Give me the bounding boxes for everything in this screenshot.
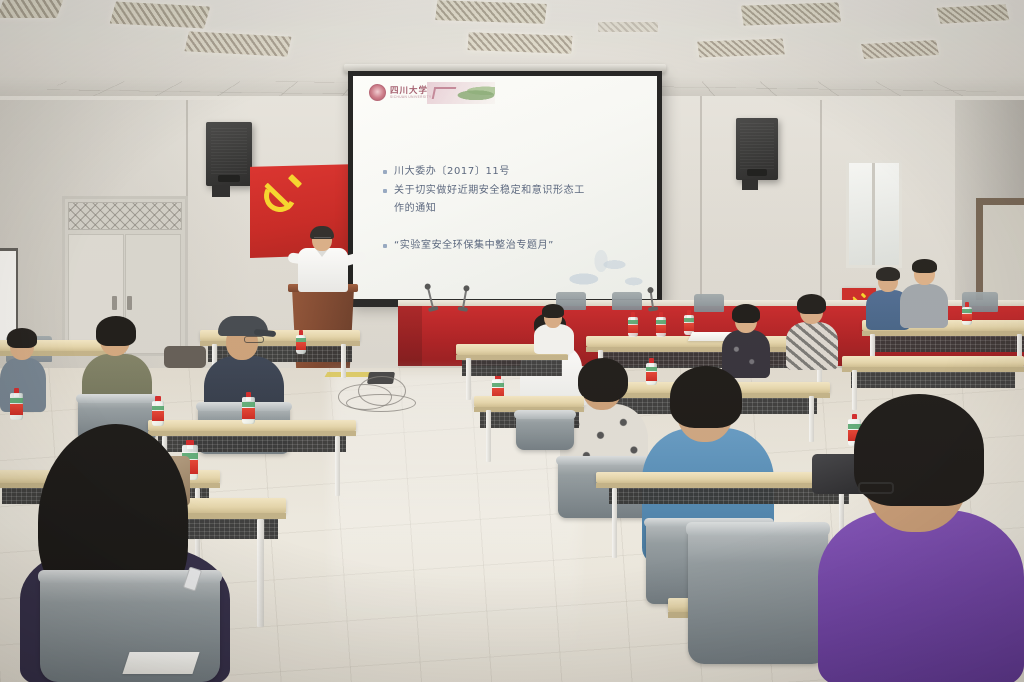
- ceiling-light-panel: [110, 1, 211, 28]
- handbag: [164, 346, 206, 368]
- eyeglasses-icon: [858, 482, 894, 494]
- ceiling-light-panel: [435, 0, 547, 24]
- audience-person: [0, 330, 46, 410]
- ceiling-light-panel: [467, 32, 572, 54]
- slide-banner-image: [427, 82, 495, 104]
- ceiling-light-panel: [697, 38, 785, 57]
- slide-logo-subtext: SICHUAN UNIVERSITY: [390, 95, 432, 99]
- slide-logo: 四川大学 SICHUAN UNIVERSITY: [369, 84, 432, 101]
- chair[interactable]: [516, 412, 574, 450]
- projected-slide: 四川大学 SICHUAN UNIVERSITY 川大委办〔2017〕11号 关于…: [353, 76, 657, 299]
- water-bottle: [628, 312, 638, 337]
- wall-speaker-icon: [736, 118, 778, 180]
- audience-person: [722, 306, 770, 376]
- desk: [842, 356, 1024, 392]
- water-bottle: [10, 388, 23, 420]
- water-bottle: [962, 302, 972, 325]
- ceiling-light-panel: [741, 2, 841, 25]
- ceiling-light-panel: [184, 31, 291, 56]
- projector-cables: [338, 374, 434, 420]
- door-transom-lattice: [68, 202, 182, 230]
- wall-seam: [820, 100, 822, 320]
- chair[interactable]: [688, 524, 828, 664]
- water-bottle: [152, 396, 164, 426]
- lecture-hall-photo: 四川大学 SICHUAN UNIVERSITY 川大委办〔2017〕11号 关于…: [0, 0, 1024, 682]
- audience-person: [534, 306, 574, 352]
- ceiling-light-panel: [861, 40, 939, 59]
- audience-person: [818, 406, 1024, 682]
- slide-watermark-graphic: [555, 237, 651, 297]
- ceiling-light-panel: [598, 22, 658, 32]
- audience-person: [900, 260, 948, 326]
- wall-seam: [700, 96, 702, 326]
- eyeglasses-icon: [244, 336, 264, 343]
- water-bottle: [242, 392, 255, 424]
- university-seal-icon: [369, 84, 386, 101]
- hammer-and-sickle-icon: [262, 176, 306, 222]
- stage-chair: [612, 292, 642, 310]
- presenter: [296, 228, 352, 290]
- ceiling-light-panel: [0, 0, 63, 18]
- water-bottle: [296, 330, 306, 354]
- slide-bullet-2-cont: 作的通知: [381, 201, 637, 217]
- projection-screen: 四川大学 SICHUAN UNIVERSITY 川大委办〔2017〕11号 关于…: [348, 71, 662, 304]
- door-handle[interactable]: [112, 296, 138, 310]
- window-mullion: [872, 163, 875, 265]
- handout-papers: [122, 652, 199, 674]
- slide-bullet-2: 关于切实做好近期安全稳定和意识形态工: [381, 183, 637, 199]
- slide-logo-text: 四川大学: [390, 86, 432, 95]
- head-table-skirt-shadow: [398, 306, 422, 368]
- audience-person: [786, 296, 838, 368]
- ceiling-light-panel: [936, 4, 1009, 24]
- stage-chair: [694, 294, 724, 312]
- wall-speaker-icon: [206, 122, 252, 186]
- water-bottle: [656, 312, 666, 337]
- slide-bullet-1: 川大委办〔2017〕11号: [381, 164, 637, 180]
